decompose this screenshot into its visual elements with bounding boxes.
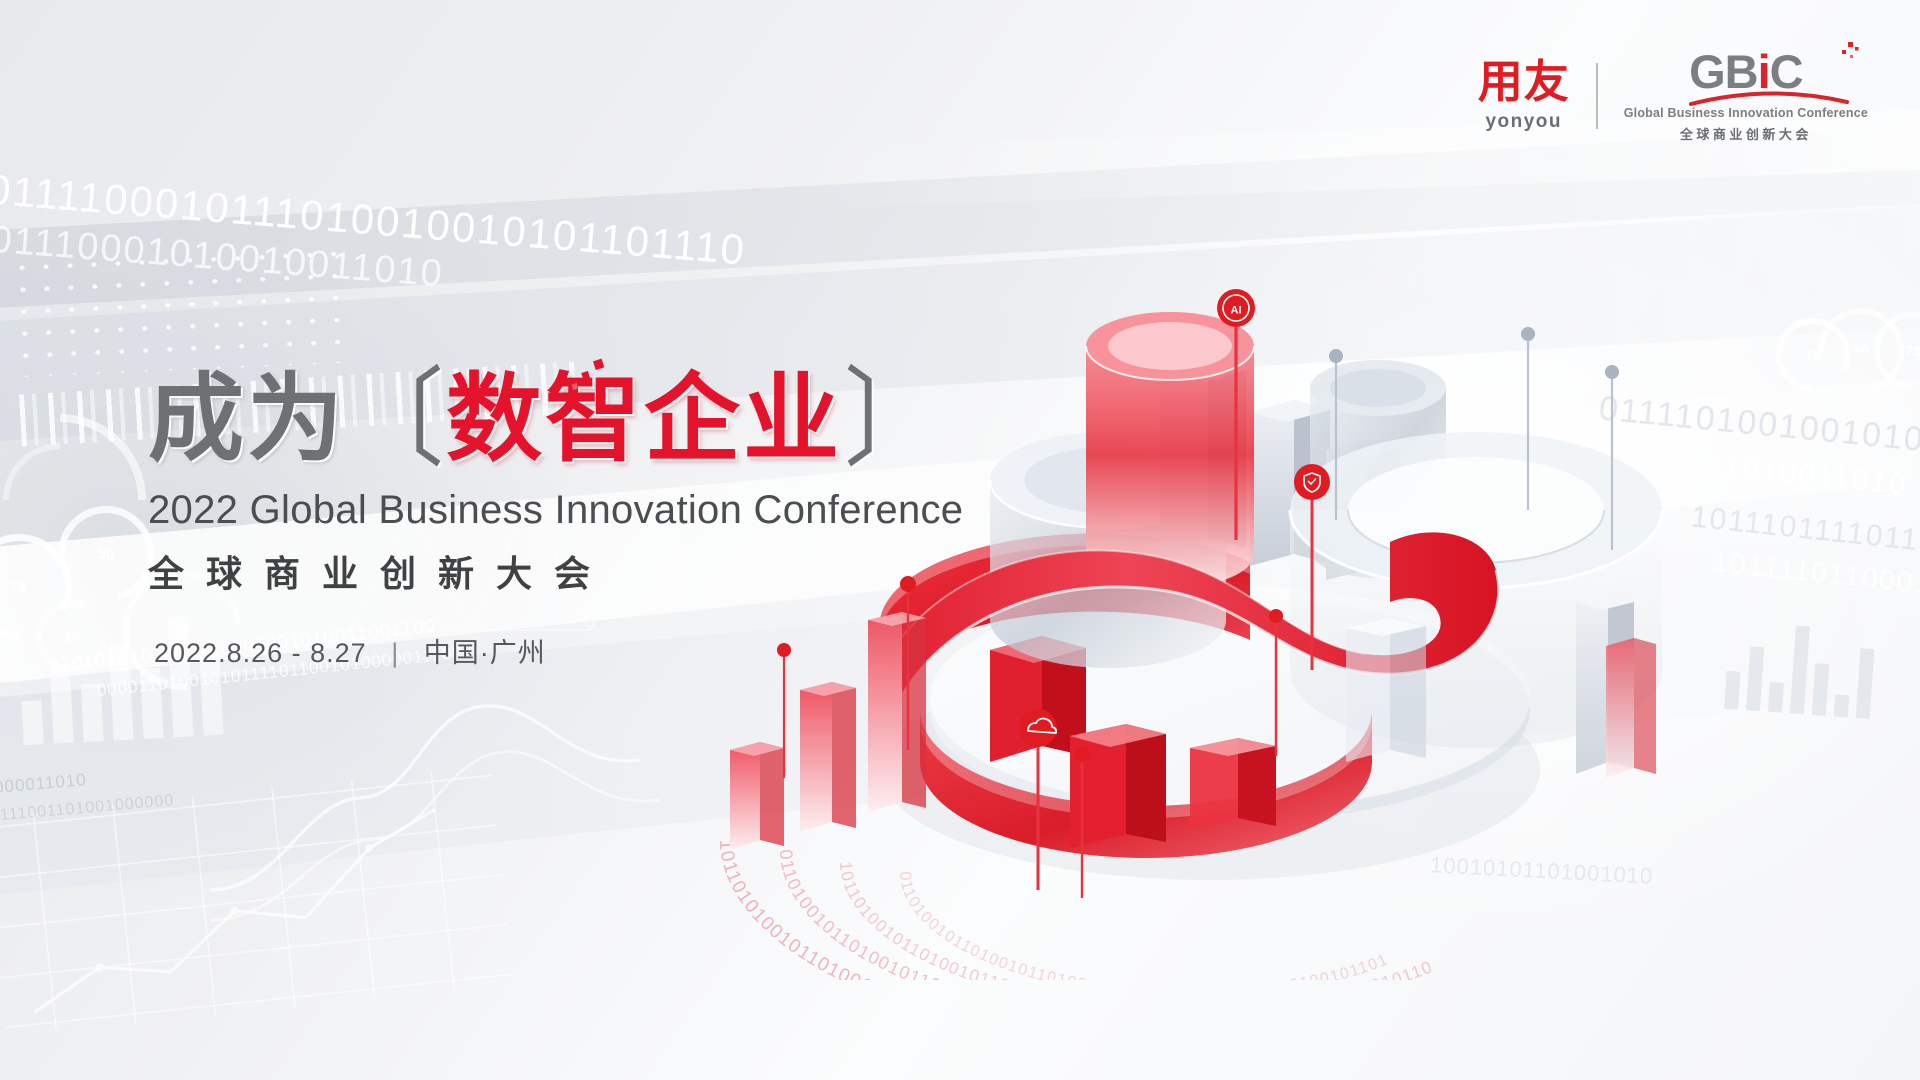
bracket-open: 〔 [348, 366, 444, 474]
gbic-tagline-en: Global Business Innovation Conference [1624, 106, 1868, 120]
gbic-logo: GBiC Global Business Innovation Conferen… [1624, 48, 1868, 143]
gauge-value: 75 [0, 541, 65, 633]
yonyou-logo-en: yonyou [1478, 111, 1570, 133]
donut-gauge: 25 [36, 600, 108, 672]
binary-stream: 01110001010010011010 [0, 219, 445, 297]
main-headline: 成为 〔 数智企业 〕 [148, 372, 963, 468]
donut-gauge: 50 [1818, 308, 1904, 394]
gauge-value: 25 [42, 606, 102, 666]
headline-gray-text: 成为 [148, 372, 346, 468]
donut-gauge: 75 [1874, 312, 1920, 390]
red-right-bars [1606, 638, 1656, 778]
event-meta: 2022.8.26 - 8.27 | 中国·广州 [154, 631, 963, 670]
gauge-value: 50 [65, 513, 147, 595]
decor-wave-plot [210, 640, 690, 940]
binary-stream: 101110111101100010110 [1689, 500, 1920, 573]
svg-text:011010010110100101101001011010: 0110100101101001011010010110100101101001… [896, 871, 1392, 980]
gbic-tagline-cn: 全球商业创新大会 [1624, 124, 1868, 143]
binary-stream: 0111001101001000000 [0, 792, 175, 826]
subtitle-chinese: 全球商业创新大会 [148, 545, 963, 597]
glass-front-blocks [1346, 618, 1426, 762]
gbic-wordmark: GBiC [1689, 48, 1803, 95]
yonyou-logo-cn: 用友 [1478, 59, 1570, 104]
sparkle-accent-icon [546, 358, 616, 404]
donut-gauge: 75 [0, 534, 72, 640]
logo-lockup: 用友 yonyou GBiC Global Business Innovatio… [1478, 48, 1868, 143]
donut-gauge: 75 [1776, 318, 1850, 392]
meta-separator: | [391, 638, 399, 668]
gauge-value: 75 [1880, 318, 1920, 384]
decor-bar-chart [1724, 589, 1878, 719]
gbic-dots-icon [1828, 42, 1862, 68]
dot-grid-pattern [10, 243, 345, 377]
binary-stream: 1011110110001010 [1711, 546, 1920, 606]
conference-banner: 0111100010111010010010101101110 01110001… [0, 0, 1920, 1080]
svg-text:AI: AI [1231, 305, 1242, 317]
headline-block: 成为 〔 数智企业 〕 2022 Global Business Innovat… [148, 372, 963, 670]
decor-line-plot [0, 700, 540, 1030]
red-cylinder-main [1086, 312, 1254, 588]
headline-red-text: 数智企业 [446, 372, 842, 468]
event-date: 2022.8.26 - 8.27 [154, 638, 367, 668]
logo-divider [1596, 63, 1598, 129]
subtitle-english: 2022 Global Business Innovation Conferen… [148, 488, 963, 533]
event-location: 中国·广州 [424, 638, 546, 668]
gauge-value: 75 [1782, 324, 1844, 386]
yonyou-logo: 用友 yonyou [1478, 59, 1570, 133]
gbic-arc-icon [1689, 88, 1849, 106]
gauge-value: 50 [1824, 314, 1898, 388]
donut-gauge: 50 [58, 506, 154, 602]
binary-stream: 000011010 [0, 770, 88, 798]
bracket-close: 〕 [844, 366, 940, 474]
binary-stream: 0111100010111010010010101101110 [0, 166, 748, 275]
decor-arc-ring [0, 400, 160, 600]
